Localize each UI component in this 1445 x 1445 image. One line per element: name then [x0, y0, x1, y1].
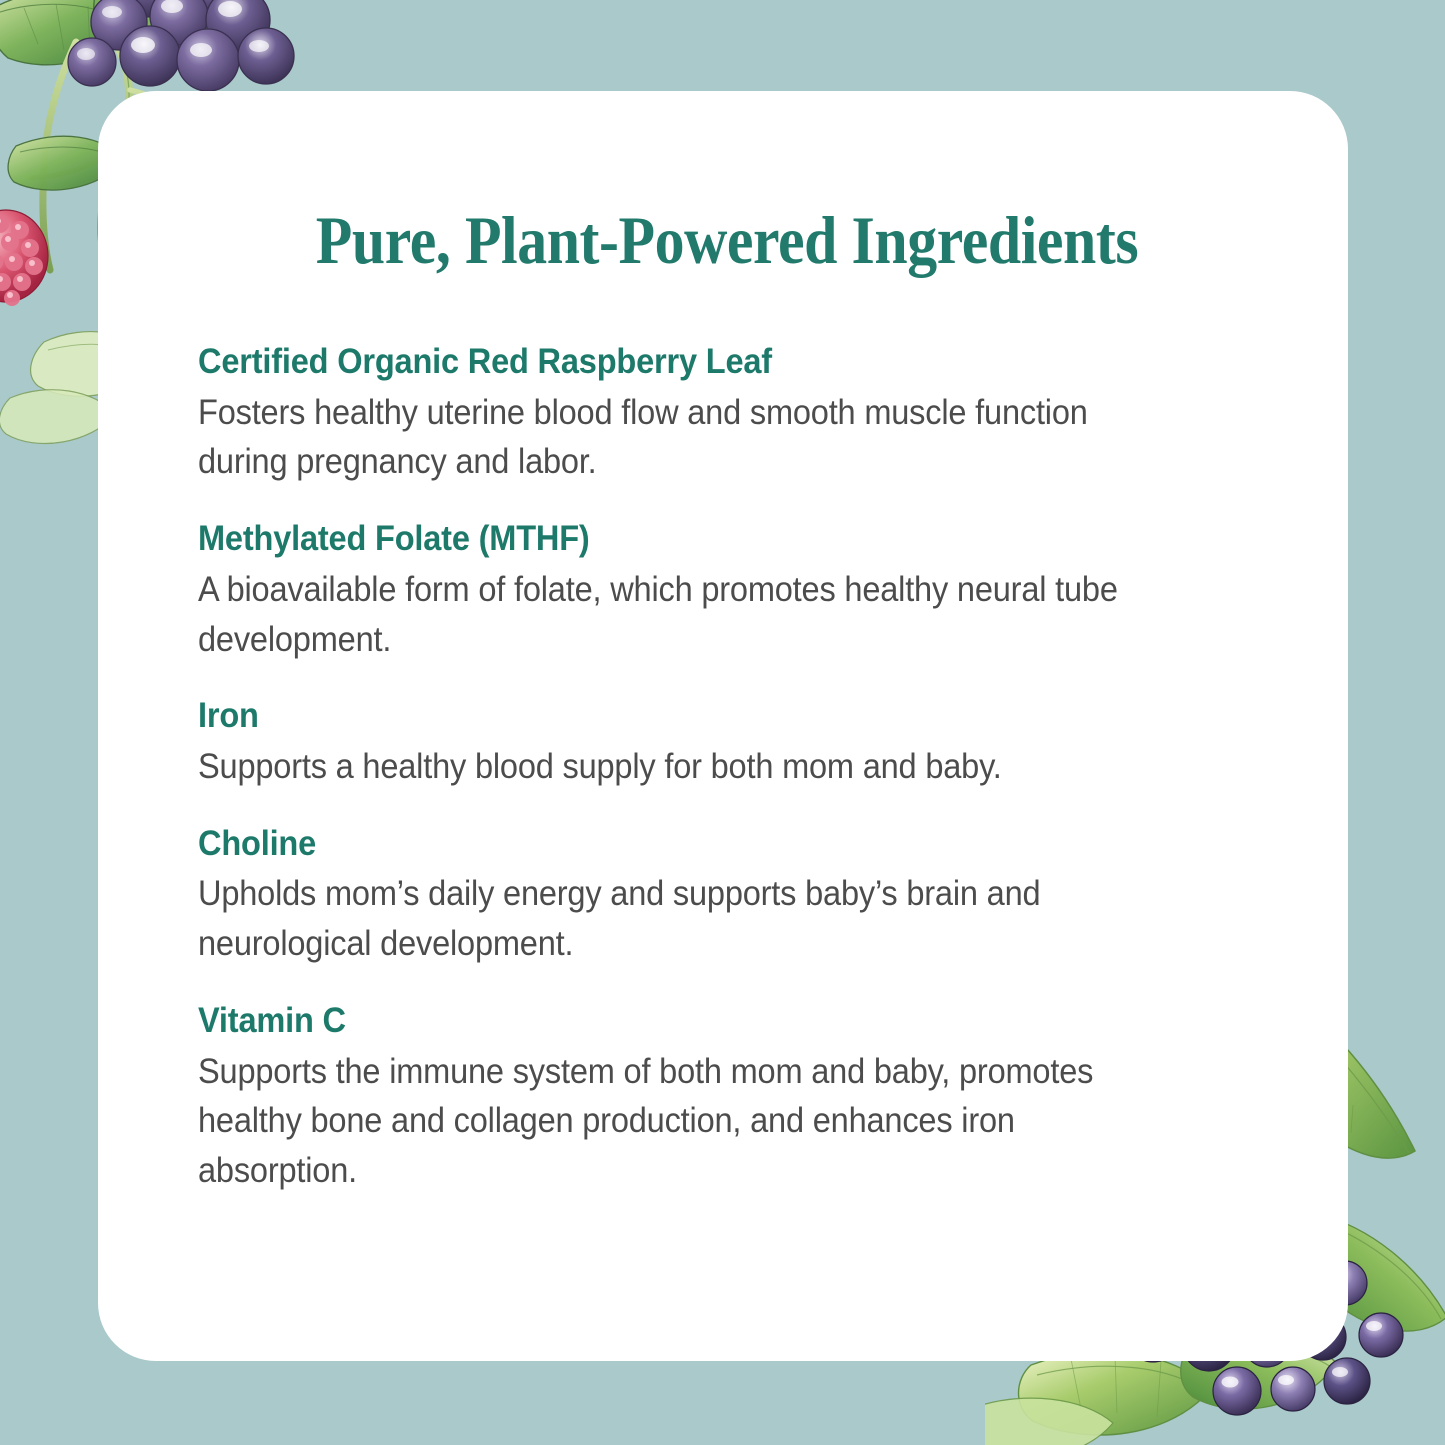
- ingredient-name: Certified Organic Red Raspberry Leaf: [198, 340, 1182, 384]
- ingredient-item-red-raspberry-leaf: Certified Organic Red Raspberry Leaf Fos…: [198, 340, 1256, 487]
- ingredient-item-iron: Iron Supports a healthy blood supply for…: [198, 694, 1256, 791]
- ingredient-item-choline: Choline Upholds mom’s daily energy and s…: [198, 822, 1256, 969]
- ingredient-description: Fosters healthy uterine blood flow and s…: [198, 388, 1182, 487]
- ingredient-list: Certified Organic Red Raspberry Leaf Fos…: [198, 340, 1256, 1196]
- ingredient-item-methylated-folate: Methylated Folate (MTHF) A bioavailable …: [198, 517, 1256, 664]
- ingredient-name: Vitamin C: [198, 999, 1182, 1043]
- ingredient-description: Upholds mom’s daily energy and supports …: [198, 869, 1182, 968]
- ingredient-description: A bioavailable form of folate, which pro…: [198, 565, 1182, 664]
- ingredient-name: Iron: [198, 694, 1182, 738]
- ingredient-description: Supports a healthy blood supply for both…: [198, 742, 1182, 792]
- page-title: Pure, Plant-Powered Ingredients: [261, 206, 1192, 274]
- ingredient-name: Methylated Folate (MTHF): [198, 517, 1182, 561]
- ingredient-item-vitamin-c: Vitamin C Supports the immune system of …: [198, 999, 1256, 1196]
- product-ingredients-graphic: Pure, Plant-Powered Ingredients Certifie…: [0, 0, 1445, 1445]
- ingredient-description: Supports the immune system of both mom a…: [198, 1047, 1182, 1196]
- ingredient-name: Choline: [198, 822, 1182, 866]
- ingredients-card: Pure, Plant-Powered Ingredients Certifie…: [98, 91, 1348, 1361]
